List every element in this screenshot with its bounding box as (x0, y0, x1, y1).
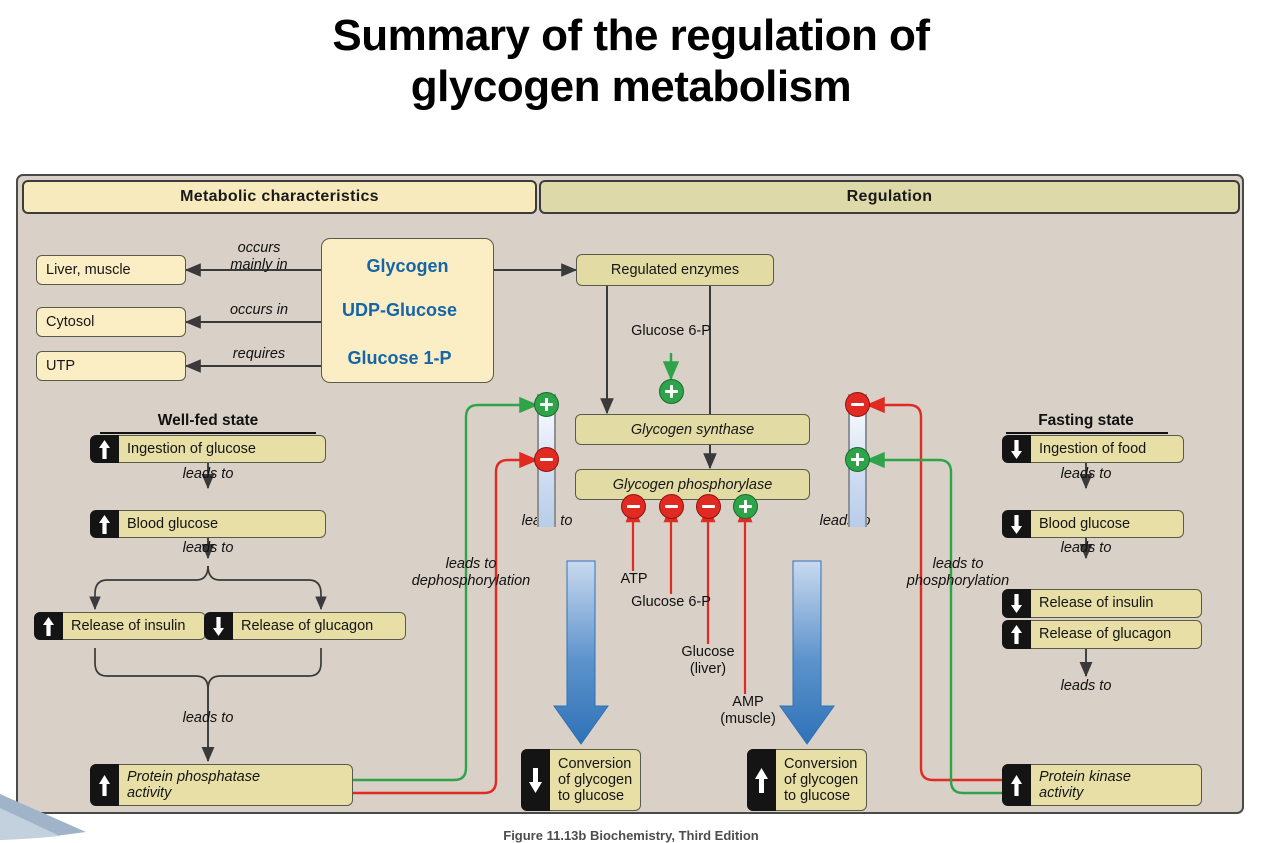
metabolic-target-utp[interactable]: UTP (36, 351, 186, 381)
down-arrow-icon (204, 612, 233, 640)
fasting-release-of-glucagon[interactable]: Release of glucagon (1002, 620, 1202, 649)
up-arrow-icon (34, 612, 63, 640)
well-fed-split-label: Release of insulin (61, 612, 206, 640)
down-arrow-icon (1002, 510, 1031, 538)
well-fed-leads-to-2: leads to (148, 540, 268, 557)
outcome-text-decrease: Conversion of glycogen to glucose (548, 749, 641, 811)
up-arrow-icon (90, 764, 119, 806)
tab-metabolic-characteristics[interactable]: Metabolic characteristics (22, 180, 537, 214)
well-fed-release-of-insulin[interactable]: Release of insulin (34, 612, 206, 640)
outcome-box-increase-conversion[interactable]: Conversion of glycogen to glucose (747, 749, 867, 811)
page-title: Summary of the regulation of glycogen me… (0, 10, 1262, 112)
well-fed-step-ingestion-of-glucose[interactable]: Ingestion of glucose (90, 435, 326, 463)
leads-to-label-right: leads to (802, 513, 888, 530)
metabolic-target-liver-muscle[interactable]: Liver, muscle (36, 255, 186, 285)
well-fed-release-of-glucagon[interactable]: Release of glucagon (204, 612, 406, 640)
well-fed-connector-label: leads to dephosphorylation (372, 556, 570, 590)
tab-regulation[interactable]: Regulation (539, 180, 1240, 214)
pathway-node-glycogen: Glycogen (321, 256, 494, 277)
up-arrow-icon (90, 510, 119, 538)
fasting-leads-to-1: leads to (1026, 466, 1146, 483)
pathway-node-glucose-1-p: Glucose 1-P (313, 348, 486, 369)
modulator-label-amp-muscle: AMP (muscle) (694, 694, 802, 728)
fasting-step-label: Blood glucose (1029, 510, 1184, 538)
modulator-label-atp: ATP (588, 571, 680, 588)
fasting-pair-label: Release of glucagon (1029, 620, 1202, 649)
enzyme-glycogen-synthase[interactable]: Glycogen synthase (575, 414, 810, 445)
up-arrow-icon (90, 435, 119, 463)
regulated-enzymes-box[interactable]: Regulated enzymes (576, 254, 774, 286)
minus-badge-glucose-liver (696, 494, 721, 519)
well-fed-leads-to-1: leads to (148, 466, 268, 483)
pathway-node-udp-glucose: UDP-Glucose (313, 300, 486, 321)
modulator-label-glucose-liver: Glucose (liver) (654, 644, 762, 678)
modulator-label-glucose-6-p: Glucose 6-P (596, 594, 746, 611)
fasting-heading: Fasting state (978, 412, 1194, 430)
activator-glucose-6-p-label: Glucose 6-P (611, 323, 731, 340)
fasting-connector-label: leads to phosphorylation (863, 556, 1053, 590)
fasting-step-blood-glucose[interactable]: Blood glucose (1002, 510, 1184, 538)
fasting-pair-label: Release of insulin (1029, 589, 1202, 618)
down-arrow-icon (1002, 589, 1031, 618)
well-fed-step-label: Ingestion of glucose (117, 435, 326, 463)
outcome-text-increase: Conversion of glycogen to glucose (774, 749, 867, 811)
plus-badge-synthase-left (534, 392, 559, 417)
minus-badge-atp (621, 494, 646, 519)
fasting-leads-to-3: leads to (1026, 678, 1146, 695)
fasting-step-ingestion-of-food[interactable]: Ingestion of food (1002, 435, 1184, 463)
relation-label-utp: requires (204, 346, 314, 363)
fasting-protein-kinase-activity[interactable]: Protein kinase activity (1002, 764, 1202, 806)
relation-label-cytosol: occurs in (204, 302, 314, 319)
up-arrow-icon (1002, 620, 1031, 649)
plus-badge-phosphorylase-right (845, 447, 870, 472)
up-arrow-icon (1002, 764, 1031, 806)
fasting-release-of-insulin[interactable]: Release of insulin (1002, 589, 1202, 618)
figure-panel: Metabolic characteristics Regulation Liv… (16, 174, 1244, 814)
well-fed-leads-to-3: leads to (148, 710, 268, 727)
outcome-box-decrease-conversion[interactable]: Conversion of glycogen to glucose (521, 749, 641, 811)
well-fed-split-label: Release of glucagon (231, 612, 406, 640)
minus-badge-synthase-right (845, 392, 870, 417)
plus-badge-amp-muscle (733, 494, 758, 519)
relation-label-liver-muscle: occurs mainly in (204, 240, 314, 274)
metabolic-target-cytosol[interactable]: Cytosol (36, 307, 186, 337)
fasting-leads-to-2: leads to (1026, 540, 1146, 557)
well-fed-step-blood-glucose[interactable]: Blood glucose (90, 510, 326, 538)
title-line-1: Summary of the regulation of (0, 10, 1262, 61)
up-arrow-icon (747, 749, 776, 811)
enzyme-glycogen-phosphorylase[interactable]: Glycogen phosphorylase (575, 469, 810, 500)
minus-badge-phosphorylase-left (534, 447, 559, 472)
fasting-step-label: Ingestion of food (1029, 435, 1184, 463)
down-arrow-icon (521, 749, 550, 811)
plus-badge-glucose-6-p (659, 379, 684, 404)
minus-badge-glucose-6-p (659, 494, 684, 519)
figure-caption: Figure 11.13b Biochemistry, Third Editio… (0, 828, 1262, 843)
well-fed-heading: Well-fed state (98, 412, 318, 430)
down-arrow-icon (1002, 435, 1031, 463)
well-fed-step-label: Blood glucose (117, 510, 326, 538)
title-line-2: glycogen metabolism (0, 61, 1262, 112)
fasting-final-text: Protein kinase activity (1029, 764, 1202, 806)
